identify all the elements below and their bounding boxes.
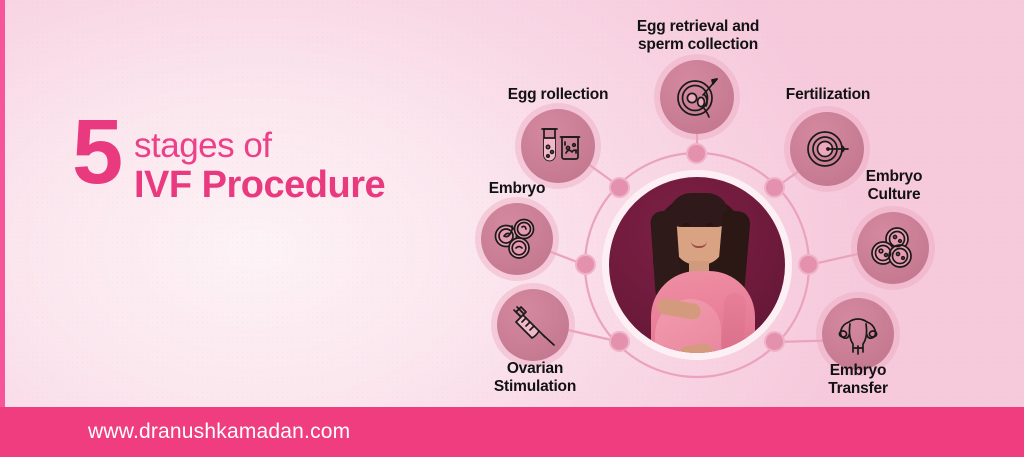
test-tube-petri-dish-icon xyxy=(535,125,581,167)
stage-label-fertilization: Fertilization xyxy=(760,86,896,104)
stage-icon-ovarian-stimulation[interactable] xyxy=(497,289,569,361)
ring-node-left xyxy=(575,254,596,275)
stage-icon-embryo[interactable] xyxy=(481,203,553,275)
ivf-stages-diagram: Egg rollection Egg retrieval and sperm c… xyxy=(0,0,1024,407)
stage-label-ovarian-stimulation: Ovarian Stimulation xyxy=(473,360,597,395)
cell-cluster-icon xyxy=(869,225,917,271)
stage-icon-embryo-transfer[interactable] xyxy=(822,298,894,370)
stage-label-embryo: Embryo xyxy=(453,180,581,198)
egg-needle-icon xyxy=(673,74,721,120)
stage-icon-egg-rollection[interactable] xyxy=(521,109,595,183)
infographic-canvas: 5 stages of IVF Procedure xyxy=(0,0,1024,457)
sperm-egg-fertilization-icon xyxy=(804,127,850,171)
stage-icon-embryo-culture[interactable] xyxy=(857,212,929,284)
stage-label-embryo-culture: Embryo Culture xyxy=(835,168,953,203)
embryo-cells-icon xyxy=(493,216,541,262)
website-url[interactable]: www.dranushkamadan.com xyxy=(88,420,350,444)
ring-node-top xyxy=(686,143,707,164)
ring-node-right xyxy=(798,254,819,275)
figure-hair-top xyxy=(669,193,729,227)
figure-arm-right xyxy=(721,292,746,353)
stage-label-egg-rollection: Egg rollection xyxy=(466,86,650,104)
stage-label-embryo-transfer: Embryo Transfer xyxy=(798,362,918,397)
uterus-icon xyxy=(834,312,882,356)
syringe-icon xyxy=(510,303,556,347)
figure-eye-right xyxy=(706,223,713,226)
figure-eye-left xyxy=(683,223,690,226)
footer-bar: www.dranushkamadan.com xyxy=(0,407,1024,457)
photo-illustration xyxy=(609,177,785,353)
center-photo-pregnant-woman xyxy=(609,177,785,353)
stage-icon-egg-retrieval[interactable] xyxy=(660,60,734,134)
stage-label-egg-retrieval: Egg retrieval and sperm collection xyxy=(600,18,796,53)
